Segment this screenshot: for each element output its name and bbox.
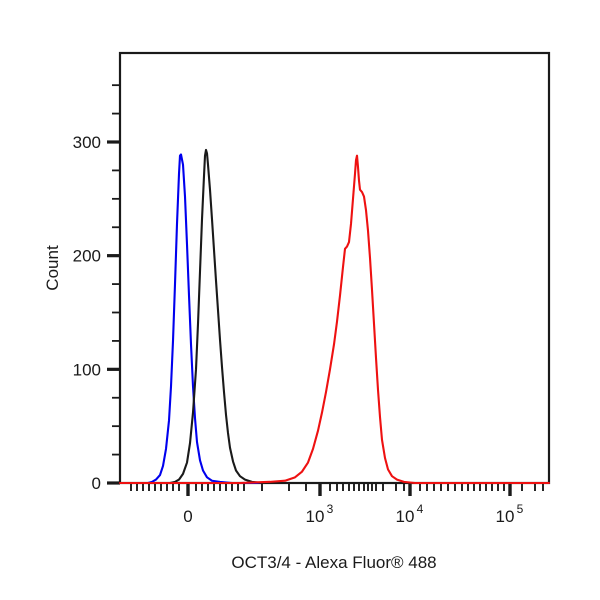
x-tick-label-exponent: 3	[327, 502, 334, 516]
x-tick-label: 10	[396, 507, 415, 526]
x-tick-label: 10	[496, 507, 515, 526]
x-axis-tick-labels: 0103104105	[183, 502, 523, 526]
x-axis-title: OCT3/4 - Alexa Fluor® 488	[231, 553, 436, 572]
y-tick-label: 300	[73, 133, 101, 152]
y-tick-label: 0	[92, 474, 101, 493]
x-axis-ticks	[131, 483, 543, 496]
x-tick-label: 0	[183, 507, 192, 526]
flow-cytometry-histogram-figure: 0100200300 0103104105 Count OCT3/4 - Ale…	[0, 0, 600, 600]
y-axis-title: Count	[43, 245, 62, 291]
y-tick-label: 100	[73, 360, 101, 379]
x-tick-label: 10	[306, 507, 325, 526]
y-axis-ticks	[107, 85, 120, 483]
y-tick-label: 200	[73, 247, 101, 266]
y-axis-tick-labels: 0100200300	[73, 133, 101, 493]
x-tick-label-exponent: 4	[417, 502, 424, 516]
x-tick-label-exponent: 5	[517, 502, 524, 516]
plot-frame	[120, 53, 549, 483]
plot-canvas: 0100200300 0103104105 Count OCT3/4 - Ale…	[0, 0, 600, 600]
